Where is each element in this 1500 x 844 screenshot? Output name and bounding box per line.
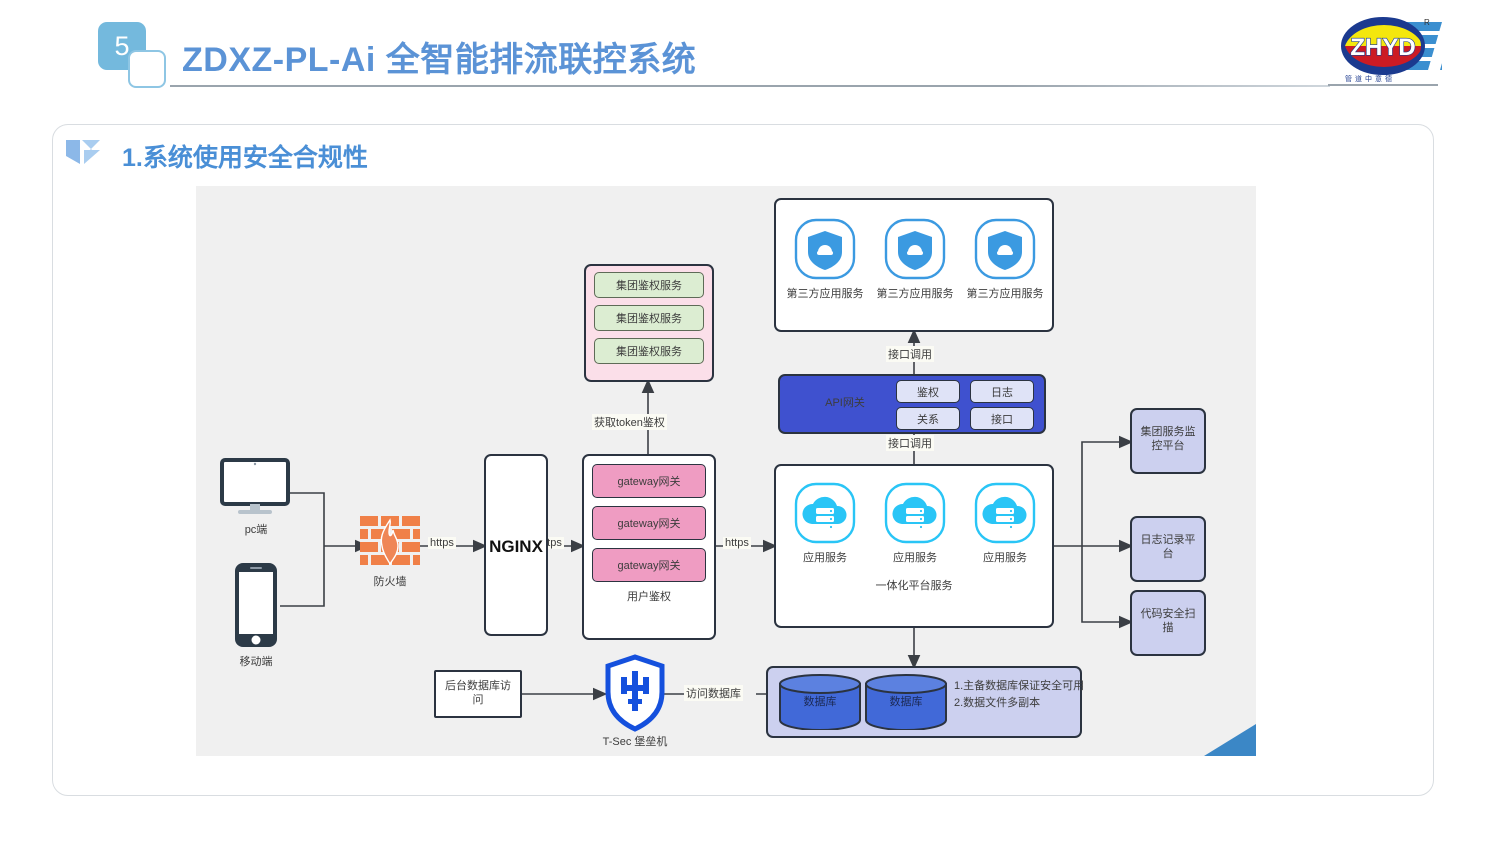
- gateway-chip-3[interactable]: gateway网关: [592, 548, 706, 582]
- log-platform-label: 日志记录平台: [1136, 534, 1200, 562]
- third-party-label-3: 第三方应用服务: [958, 288, 1052, 302]
- backend-db-access-label: 后台数据库访问: [440, 680, 516, 708]
- api-gateway-chip-log[interactable]: 日志: [970, 380, 1034, 403]
- database-note-line-2: 2.数据文件多副本: [954, 697, 1080, 711]
- third-party-label-1: 第三方应用服务: [778, 288, 872, 302]
- section-marker-icon: [66, 138, 102, 166]
- api-gateway-chip-relation[interactable]: 关系: [896, 407, 960, 430]
- edge-label-https-1: https: [428, 537, 456, 549]
- pc-terminal-label: pc端: [216, 524, 296, 538]
- slide-root: 5 ZDXZ-PL-Ai 全智能排流联控系统 ZHYD R 管道中意德: [0, 0, 1500, 844]
- api-gateway-chip-interface[interactable]: 接口: [970, 407, 1034, 430]
- app-service-icon-3: [974, 482, 1036, 544]
- registered-mark: R: [1424, 18, 1430, 27]
- logo-divider: [1328, 84, 1438, 86]
- app-service-icon-1: [794, 482, 856, 544]
- corner-triangle-decoration: [1204, 724, 1256, 756]
- edge-label-https-3: https: [723, 537, 751, 549]
- firewall-label: 防火墙: [350, 576, 430, 590]
- gateway-chip-1[interactable]: gateway网关: [592, 464, 706, 498]
- edge-label-api-call-up: 接口调用: [886, 346, 934, 362]
- monitoring-platform-label: 集团服务监控平台: [1136, 426, 1200, 454]
- architecture-diagram: https https https 获取token鉴权 接口调用 接口调用 访问…: [196, 186, 1256, 756]
- connector-layer: [196, 186, 1256, 756]
- header-divider: [170, 85, 1330, 87]
- page-title: ZDXZ-PL-Ai 全智能排流联控系统: [182, 32, 696, 81]
- gateway-chip-2[interactable]: gateway网关: [592, 506, 706, 540]
- platform-caption: 一体化平台服务: [774, 580, 1054, 594]
- app-service-label-2: 应用服务: [880, 552, 950, 566]
- mobile-terminal-label: 移动端: [216, 656, 296, 670]
- firewall-icon: [360, 514, 420, 572]
- database-note-line-1: 1.主备数据库保证安全可用: [954, 680, 1080, 694]
- svg-text:ZHYD: ZHYD: [1350, 34, 1415, 61]
- gateway-group-caption: 用户鉴权: [582, 591, 716, 605]
- third-party-icon-1: [794, 218, 856, 280]
- bastion-host-label: T-Sec 堡垒机: [595, 736, 675, 750]
- third-party-icon-2: [884, 218, 946, 280]
- logo-subtext: 管道中意德: [1345, 74, 1395, 84]
- app-service-label-1: 应用服务: [790, 552, 860, 566]
- pc-terminal: [216, 458, 296, 520]
- app-service-icon-2: [884, 482, 946, 544]
- edge-label-api-call-down: 接口调用: [886, 435, 934, 451]
- database-label-2: 数据库: [864, 696, 948, 710]
- edge-label-access-database: 访问数据库: [684, 685, 743, 701]
- auth-service-chip-1[interactable]: 集团鉴权服务: [594, 272, 704, 298]
- third-party-icon-3: [974, 218, 1036, 280]
- code-security-scan-label: 代码安全扫描: [1136, 608, 1200, 636]
- third-party-label-2: 第三方应用服务: [868, 288, 962, 302]
- auth-service-chip-2[interactable]: 集团鉴权服务: [594, 305, 704, 331]
- bastion-host-icon: [604, 654, 666, 732]
- mobile-terminal: [230, 561, 282, 651]
- section-title: 1.系统使用安全合规性: [122, 138, 368, 174]
- api-gateway-title: API网关: [790, 397, 900, 411]
- api-gateway-chip-auth[interactable]: 鉴权: [896, 380, 960, 403]
- edge-label-token: 获取token鉴权: [592, 414, 667, 430]
- slide-number-badge-outline: [128, 50, 166, 88]
- app-service-label-3: 应用服务: [970, 552, 1040, 566]
- nginx-label: NGINX: [484, 536, 548, 557]
- auth-service-chip-3[interactable]: 集团鉴权服务: [594, 338, 704, 364]
- database-label-1: 数据库: [778, 696, 862, 710]
